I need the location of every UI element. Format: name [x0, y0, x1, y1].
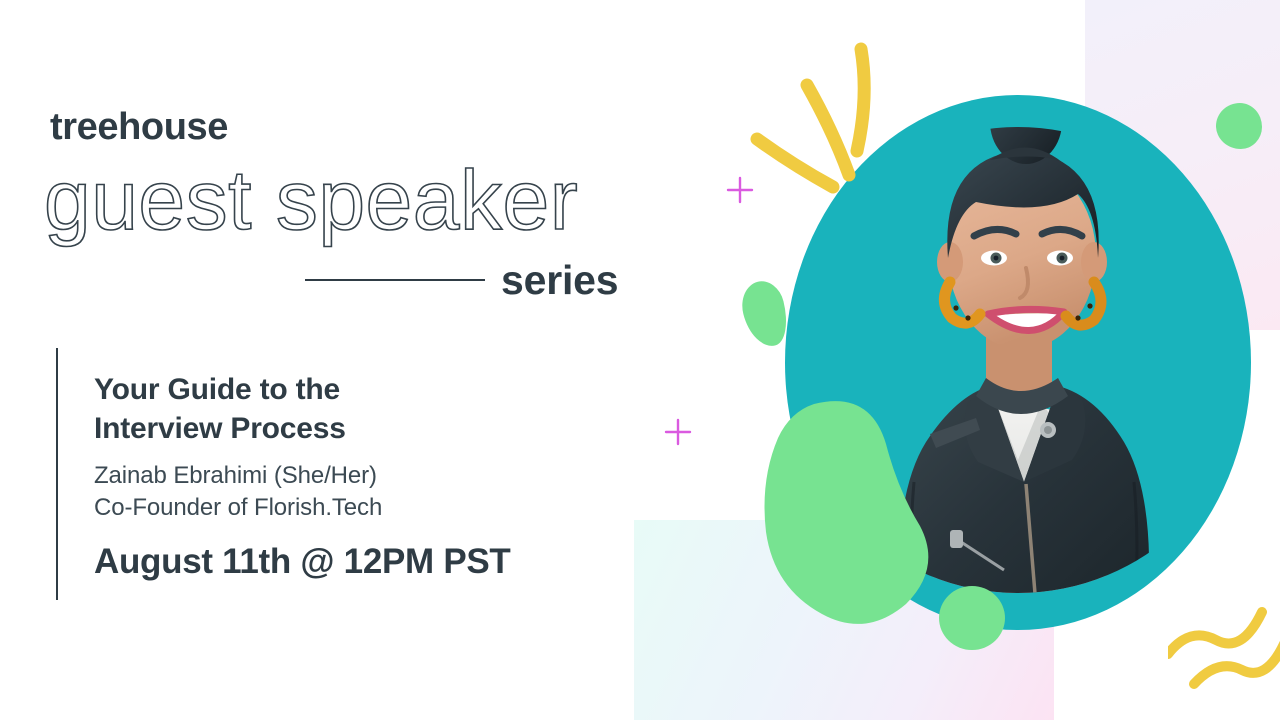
green-blob-dot-bottom [939, 586, 1005, 650]
speaker-role: Co-Founder of Florish.Tech [94, 492, 616, 524]
treehouse-wordmark: treehouse [50, 108, 228, 146]
yellow-brush-strokes-icon [745, 35, 905, 200]
speaker-name: Zainab Ebrahimi (She/Her) [94, 460, 616, 492]
green-blob-large [760, 398, 934, 626]
series-row: series [305, 252, 625, 308]
yellow-squiggles-icon [1168, 592, 1280, 692]
guest-speaker-promo-graphic: treehouse guest speaker series Your Guid… [0, 0, 1280, 720]
event-datetime: August 11th @ 12PM PST [94, 524, 616, 582]
session-info-block: Your Guide to the Interview Process Zain… [56, 348, 616, 600]
series-label: series [501, 260, 618, 301]
magenta-plus-icon-bottom [664, 418, 692, 446]
talk-title: Your Guide to the Interview Process [94, 348, 616, 448]
guest-speaker-headline: guest speaker [44, 158, 578, 242]
talk-title-line-2: Interview Process [94, 409, 616, 448]
series-divider-rule [305, 279, 485, 281]
magenta-plus-icon-top [726, 176, 754, 204]
green-blob-top-right [1216, 103, 1262, 149]
talk-title-line-1: Your Guide to the [94, 370, 616, 409]
